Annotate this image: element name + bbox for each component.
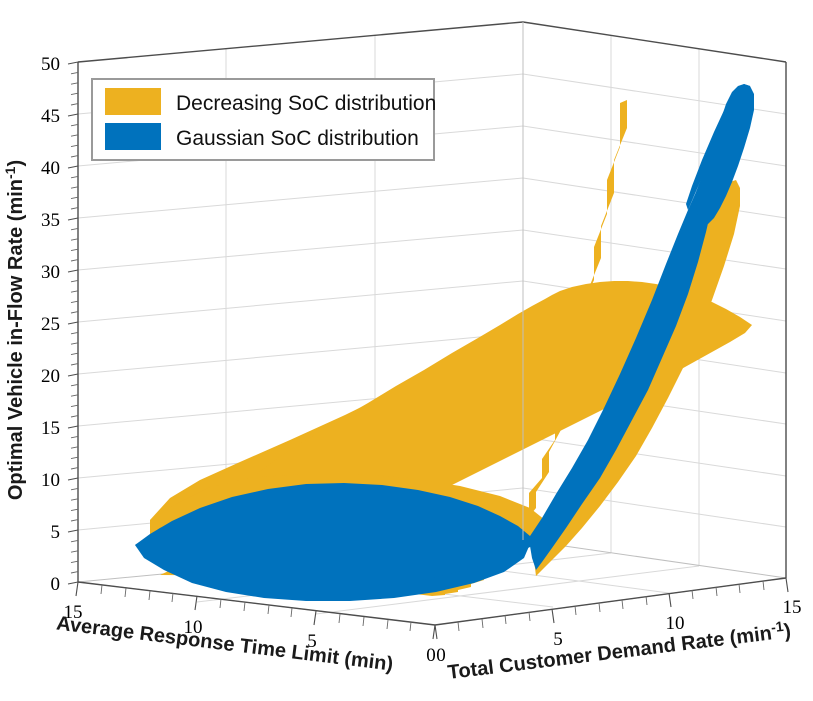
y-axis-title: Total Customer Demand Rate (min-1) [446, 617, 792, 684]
z-tick-label-5: 5 [51, 522, 61, 543]
z-tick-label-15: 15 [41, 418, 60, 439]
z-tick-label-20: 20 [41, 366, 60, 387]
z-axis-tick-labels: 0 5 10 15 20 25 30 35 40 45 50 [41, 54, 60, 595]
z-axis-title-superscript: -1 [2, 166, 18, 179]
z-tick-label-40: 40 [41, 158, 60, 179]
y-axis-title-text: Total Customer Demand Rate (min [446, 622, 773, 684]
y-tick-label-10: 10 [666, 613, 685, 634]
svg-text:Optimal Vehicle in-Flow Rate (: Optimal Vehicle in-Flow Rate (min-1) [2, 160, 27, 500]
x-axis-title: Average Response Time Limit (min) [55, 612, 394, 675]
svg-text:Total Customer Demand Rate (mi: Total Customer Demand Rate (min-1) [446, 617, 792, 684]
z-tick-label-45: 45 [41, 106, 60, 127]
figure-3d-surface-plot: 0 5 10 15 20 25 30 35 40 45 50 Optimal V… [0, 0, 813, 701]
plot-canvas: 0 5 10 15 20 25 30 35 40 45 50 Optimal V… [0, 0, 813, 701]
legend[interactable]: Decreasing SoC distribution Gaussian SoC… [92, 79, 436, 160]
z-axis-title-suffix: ) [5, 160, 27, 167]
z-tick-label-10: 10 [41, 470, 60, 491]
x-tick-label-0: 0 [426, 645, 436, 666]
y-axis-title-suffix: ) [783, 620, 792, 643]
y-tick-label-15: 15 [783, 597, 802, 618]
x-axis-title-text: Average Response Time Limit (min) [55, 612, 394, 675]
z-axis-ticks [68, 62, 78, 584]
z-tick-label-0: 0 [51, 574, 61, 595]
legend-label-decreasing: Decreasing SoC distribution [176, 92, 436, 115]
y-tick-label-0: 0 [436, 645, 446, 666]
z-tick-label-25: 25 [41, 314, 60, 335]
legend-label-gaussian: Gaussian SoC distribution [176, 127, 419, 150]
y-tick-label-5: 5 [553, 629, 563, 650]
legend-swatch-decreasing [105, 88, 161, 115]
z-tick-label-35: 35 [41, 210, 60, 231]
z-axis-title-text: Optimal Vehicle in-Flow Rate (min [5, 179, 27, 500]
z-tick-label-30: 30 [41, 262, 60, 283]
legend-swatch-gaussian [105, 123, 161, 150]
z-tick-label-50: 50 [41, 54, 60, 75]
z-axis-title: Optimal Vehicle in-Flow Rate (min-1) [2, 160, 27, 500]
